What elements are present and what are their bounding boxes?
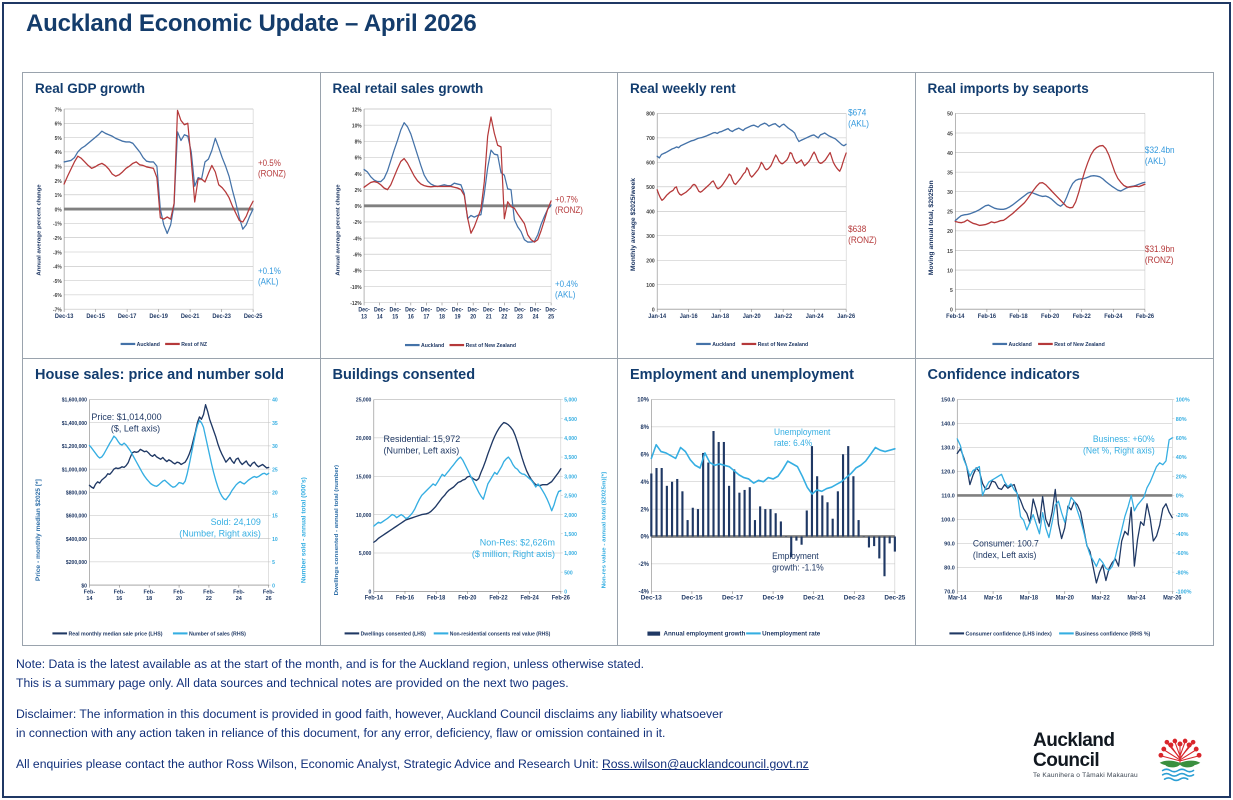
svg-text:16: 16	[407, 314, 413, 320]
chart-real-imports-by-seaports: 05101520253035404550Feb-14Feb-16Feb-18Fe…	[924, 98, 1208, 351]
svg-text:Dec-15: Dec-15	[681, 594, 702, 601]
svg-text:2%: 2%	[640, 507, 649, 513]
svg-text:16: 16	[116, 596, 122, 602]
svg-text:Feb-: Feb-	[143, 589, 155, 595]
svg-text:(Number, Left axis): (Number, Left axis)	[383, 445, 459, 455]
svg-text:Mar-22: Mar-22	[1091, 595, 1110, 601]
svg-text:Feb-26: Feb-26	[1135, 314, 1154, 320]
svg-text:$1,200,000: $1,200,000	[62, 444, 87, 450]
svg-text:200: 200	[646, 258, 654, 264]
svg-text:Feb-: Feb-	[114, 589, 126, 595]
svg-text:2%: 2%	[55, 179, 62, 185]
svg-text:1%: 1%	[55, 193, 62, 199]
svg-text:2,500: 2,500	[564, 493, 577, 499]
svg-text:(AKL): (AKL)	[555, 289, 576, 300]
svg-text:Dec-: Dec-	[514, 307, 526, 313]
contact-email-link[interactable]: Ross.wilson@aucklandcouncil.govt.nz	[602, 757, 809, 771]
svg-text:Non-residential consents real: Non-residential consents real value (RHS…	[449, 631, 550, 637]
svg-text:-4%: -4%	[53, 264, 62, 270]
svg-text:Feb-18: Feb-18	[427, 595, 446, 601]
svg-text:Dec-: Dec-	[358, 307, 370, 313]
svg-text:25,000: 25,000	[355, 398, 371, 404]
svg-text:40%: 40%	[1175, 455, 1186, 461]
svg-text:Feb-22: Feb-22	[1072, 314, 1091, 320]
svg-text:5,000: 5,000	[358, 551, 371, 557]
svg-text:(RONZ): (RONZ)	[555, 204, 583, 215]
svg-text:10: 10	[272, 537, 278, 543]
svg-text:Jan-16: Jan-16	[680, 314, 698, 320]
panel-title-real-gdp-growth: Real GDP growth	[35, 81, 314, 96]
svg-text:$674: $674	[848, 107, 866, 118]
note-line-1: Note: Data is the latest available as at…	[16, 655, 1016, 674]
svg-text:2,000: 2,000	[564, 513, 577, 519]
svg-text:Real monthly median sale price: Real monthly median sale price (LHS)	[69, 631, 163, 637]
svg-text:7%: 7%	[55, 107, 62, 113]
chart-employment-unemployment: -4%-2%0%2%4%6%8%10%Dec-13Dec-15Dec-17Dec…	[626, 385, 909, 639]
logo-wordmark: Auckland Council Te Kaunihera o Tāmaki M…	[1033, 732, 1138, 779]
svg-text:Consumer: 100.7: Consumer: 100.7	[972, 538, 1038, 548]
panel-title-confidence-indicators: Confidence indicators	[928, 367, 1208, 383]
svg-text:4%: 4%	[55, 150, 62, 156]
svg-text:Jan-20: Jan-20	[743, 314, 761, 320]
svg-text:Non-Res: $2,626m: Non-Res: $2,626m	[479, 537, 554, 547]
svg-text:19: 19	[454, 314, 460, 320]
svg-text:-60%: -60%	[1175, 551, 1188, 557]
svg-text:50: 50	[947, 111, 953, 117]
chart-real-retail-sales-growth: -12%-10%-8%-6%-4%-2%0%2%4%6%8%10%12%Dec-…	[329, 98, 612, 351]
svg-text:(RONZ): (RONZ)	[258, 168, 286, 179]
svg-text:-1%: -1%	[53, 221, 62, 227]
svg-text:$1,600,000: $1,600,000	[62, 398, 87, 404]
svg-text:$1,000,000: $1,000,000	[62, 467, 87, 473]
logo-line-2: Council	[1033, 751, 1138, 770]
svg-text:20: 20	[176, 596, 182, 602]
svg-text:25: 25	[947, 209, 953, 215]
svg-text:4%: 4%	[640, 480, 649, 486]
svg-text:45: 45	[947, 131, 953, 137]
svg-text:10,000: 10,000	[355, 513, 371, 519]
svg-text:Jan-26: Jan-26	[837, 314, 855, 320]
svg-text:24: 24	[236, 596, 243, 602]
svg-text:12%: 12%	[351, 107, 361, 113]
dashboard-grid: Real GDP growth -7%-6%-5%-4%-3%-2%-1%0%1…	[22, 72, 1214, 646]
svg-text:Dec-: Dec-	[467, 307, 479, 313]
svg-text:500: 500	[564, 570, 573, 576]
svg-text:(RONZ): (RONZ)	[848, 235, 877, 246]
chart-house-sales: $0$200,000$400,000$600,000$800,000$1,000…	[31, 385, 314, 639]
svg-text:Consumer confidence (LHS index: Consumer confidence (LHS index)	[965, 631, 1051, 637]
svg-text:-3%: -3%	[53, 250, 62, 256]
svg-text:Number sold - annual total (00: Number sold - annual total (000's)	[301, 477, 308, 583]
svg-text:Dec-: Dec-	[405, 307, 417, 313]
svg-text:Annual average percent change: Annual average percent change	[37, 184, 43, 275]
svg-text:growth: -1.1%: growth: -1.1%	[772, 562, 824, 572]
panel-real-retail-sales-growth: Real retail sales growth -12%-10%-8%-6%-…	[321, 73, 619, 359]
svg-text:Dec-13: Dec-13	[55, 314, 74, 320]
svg-text:8%: 8%	[354, 139, 361, 145]
svg-text:600: 600	[646, 160, 654, 166]
svg-text:15,000: 15,000	[355, 474, 371, 480]
svg-text:Mar-16: Mar-16	[983, 595, 1002, 601]
svg-text:Rest of New Zealand: Rest of New Zealand	[758, 342, 808, 348]
svg-text:$200,000: $200,000	[66, 560, 87, 566]
svg-text:Feb-24: Feb-24	[520, 595, 539, 601]
svg-text:Dec-17: Dec-17	[722, 594, 743, 601]
svg-text:$400,000: $400,000	[66, 537, 87, 543]
svg-text:+0.5%: +0.5%	[258, 158, 281, 169]
svg-text:Employment: Employment	[772, 551, 819, 561]
svg-text:1,000: 1,000	[564, 551, 577, 557]
svg-text:5: 5	[272, 560, 275, 566]
svg-text:(Number, Right axis): (Number, Right axis)	[179, 528, 261, 538]
svg-text:($ million, Right axis): ($ million, Right axis)	[471, 549, 554, 559]
svg-text:Dec-23: Dec-23	[212, 314, 231, 320]
svg-text:110.0: 110.0	[941, 493, 954, 499]
svg-text:Price: $1,014,000: Price: $1,014,000	[91, 412, 161, 422]
svg-text:Moving annual total, $2025bn: Moving annual total, $2025bn	[928, 180, 935, 275]
panel-employment-unemployment: Employment and unemployment -4%-2%0%2%4%…	[618, 359, 916, 645]
svg-text:Auckland: Auckland	[421, 343, 444, 349]
svg-text:Monthly average $2025/week: Monthly average $2025/week	[630, 177, 637, 271]
svg-text:Dec-: Dec-	[436, 307, 448, 313]
panel-real-imports-by-seaports: Real imports by seaports 051015202530354…	[916, 73, 1214, 359]
svg-text:Feb-26: Feb-26	[551, 595, 570, 601]
svg-text:100: 100	[646, 283, 654, 289]
svg-text:+0.7%: +0.7%	[555, 194, 578, 205]
svg-text:(Net %, Right axis): (Net %, Right axis)	[1083, 445, 1155, 455]
svg-text:Rest of New Zealand: Rest of New Zealand	[465, 343, 515, 349]
svg-text:+0.4%: +0.4%	[555, 279, 578, 290]
svg-text:Auckland: Auckland	[1008, 342, 1031, 348]
svg-text:Feb-: Feb-	[203, 589, 215, 595]
svg-text:Dec-19: Dec-19	[763, 594, 784, 601]
svg-text:Dec-21: Dec-21	[803, 594, 824, 601]
svg-text:-6%: -6%	[53, 293, 62, 299]
svg-text:0: 0	[950, 307, 953, 313]
svg-text:21: 21	[485, 314, 491, 320]
svg-text:Mar-24: Mar-24	[1127, 595, 1146, 601]
svg-text:-6%: -6%	[352, 252, 361, 258]
svg-text:2%: 2%	[354, 188, 361, 194]
chart-buildings-consented: 05,00010,00015,00020,00025,00005001,0001…	[329, 385, 612, 639]
svg-text:Dec-21: Dec-21	[181, 314, 200, 320]
svg-text:Dec-23: Dec-23	[844, 594, 865, 601]
svg-text:-4%: -4%	[352, 236, 361, 242]
svg-text:-2%: -2%	[352, 220, 361, 226]
svg-text:800: 800	[646, 111, 654, 117]
svg-text:-2%: -2%	[639, 562, 650, 568]
svg-text:Dec-13: Dec-13	[641, 594, 662, 601]
svg-text:60%: 60%	[1175, 436, 1186, 442]
svg-text:20,000: 20,000	[355, 436, 371, 442]
panel-title-employment-unemployment: Employment and unemployment	[630, 367, 909, 383]
svg-text:(AKL): (AKL)	[258, 276, 279, 287]
svg-text:Mar-14: Mar-14	[948, 595, 967, 601]
svg-text:Feb-16: Feb-16	[977, 314, 996, 320]
panel-title-house-sales: House sales: price and number sold	[35, 367, 314, 383]
svg-text:22: 22	[501, 314, 507, 320]
svg-text:30: 30	[947, 190, 953, 196]
svg-text:-8%: -8%	[352, 268, 361, 274]
svg-text:40: 40	[272, 398, 278, 404]
svg-text:20: 20	[272, 490, 278, 496]
svg-text:10: 10	[947, 268, 953, 274]
contact-prefix: All enquiries please contact the author …	[16, 757, 602, 771]
svg-text:4,500: 4,500	[564, 417, 577, 423]
svg-text:6%: 6%	[354, 155, 361, 161]
svg-text:100%: 100%	[1175, 398, 1189, 404]
svg-text:Dwellings consented (LHS): Dwellings consented (LHS)	[360, 631, 425, 637]
svg-text:(RONZ): (RONZ)	[1144, 254, 1173, 265]
svg-text:Feb-: Feb-	[263, 589, 275, 595]
svg-text:130.0: 130.0	[941, 446, 955, 452]
svg-text:140.0: 140.0	[941, 422, 955, 428]
svg-text:100.0: 100.0	[941, 517, 955, 523]
auckland-council-logo: Auckland Council Te Kaunihera o Tāmaki M…	[1033, 730, 1211, 786]
svg-text:24: 24	[532, 314, 539, 320]
svg-text:Feb-: Feb-	[233, 589, 245, 595]
svg-text:Jan-22: Jan-22	[774, 314, 792, 320]
svg-text:Feb-22: Feb-22	[489, 595, 508, 601]
svg-text:Dwellings consented - annual t: Dwellings consented - annual total (numb…	[333, 465, 339, 596]
svg-text:6%: 6%	[55, 121, 62, 127]
svg-text:(Index, Left axis): (Index, Left axis)	[972, 550, 1036, 560]
svg-text:35: 35	[947, 170, 953, 176]
panel-real-gdp-growth: Real GDP growth -7%-6%-5%-4%-3%-2%-1%0%1…	[23, 73, 321, 359]
svg-text:10%: 10%	[637, 398, 649, 404]
svg-text:Dec-19: Dec-19	[149, 314, 168, 320]
svg-text:Annual average percent change: Annual average percent change	[335, 184, 341, 275]
svg-text:14: 14	[86, 596, 93, 602]
svg-text:Dec-: Dec-	[420, 307, 432, 313]
svg-text:Annual employment growth: Annual employment growth	[664, 630, 746, 637]
panel-buildings-consented: Buildings consented 05,00010,00015,00020…	[321, 359, 619, 645]
page-title: Auckland Economic Update – April 2026	[26, 10, 477, 38]
svg-text:Non-res value - annual total (: Non-res value - annual total ($2025m)[*]	[601, 472, 607, 588]
svg-text:22: 22	[206, 596, 212, 602]
svg-text:$32.4bn: $32.4bn	[1144, 145, 1174, 156]
svg-text:Business confidence (RHS %): Business confidence (RHS %)	[1075, 631, 1150, 637]
svg-text:-2%: -2%	[53, 236, 62, 242]
svg-text:20: 20	[470, 314, 476, 320]
svg-text:15: 15	[392, 314, 398, 320]
svg-text:40: 40	[947, 151, 953, 157]
contact-line: All enquiries please contact the author …	[16, 755, 1016, 774]
svg-text:Dec-: Dec-	[498, 307, 510, 313]
svg-text:($, Left axis): ($, Left axis)	[111, 423, 160, 433]
logo-line-3: Te Kaunihera o Tāmaki Makaurau	[1033, 772, 1138, 779]
panel-title-real-imports-by-seaports: Real imports by seaports	[928, 81, 1208, 96]
svg-text:Feb-18: Feb-18	[1009, 314, 1028, 320]
svg-text:23: 23	[517, 314, 523, 320]
panel-title-real-retail-sales-growth: Real retail sales growth	[333, 81, 612, 96]
svg-text:25: 25	[548, 314, 554, 320]
svg-text:Jan-24: Jan-24	[806, 314, 824, 320]
svg-text:Business: +60%: Business: +60%	[1092, 434, 1154, 444]
svg-text:$31.9bn: $31.9bn	[1144, 244, 1174, 255]
svg-text:35: 35	[272, 421, 278, 427]
svg-text:90.0: 90.0	[944, 541, 955, 547]
panel-house-sales: House sales: price and number sold $0$20…	[23, 359, 321, 645]
svg-text:Feb-24: Feb-24	[1104, 314, 1123, 320]
svg-text:120.0: 120.0	[941, 469, 955, 475]
svg-text:0%: 0%	[55, 207, 62, 213]
svg-text:0%: 0%	[354, 204, 361, 210]
svg-text:150.0: 150.0	[941, 398, 955, 404]
svg-text:0: 0	[652, 307, 655, 313]
svg-text:3,500: 3,500	[564, 455, 577, 461]
panel-title-buildings-consented: Buildings consented	[333, 367, 612, 383]
svg-text:Feb-14: Feb-14	[364, 595, 383, 601]
svg-text:Jan-14: Jan-14	[648, 314, 666, 320]
svg-text:Number of sales (RHS): Number of sales (RHS)	[189, 631, 246, 637]
svg-text:Feb-14: Feb-14	[946, 314, 965, 320]
svg-text:-40%: -40%	[1175, 532, 1188, 538]
svg-text:17: 17	[423, 314, 429, 320]
svg-text:500: 500	[646, 185, 654, 191]
svg-text:Mar-26: Mar-26	[1163, 595, 1182, 601]
svg-text:25: 25	[272, 467, 278, 473]
svg-text:400: 400	[646, 209, 654, 215]
svg-text:-12%: -12%	[350, 301, 362, 307]
svg-text:4,000: 4,000	[564, 436, 577, 442]
svg-text:26: 26	[266, 596, 272, 602]
svg-text:(AKL): (AKL)	[848, 118, 869, 129]
svg-text:Rest of NZ: Rest of NZ	[181, 342, 207, 348]
svg-text:-5%: -5%	[53, 279, 62, 285]
svg-text:5: 5	[950, 288, 953, 294]
svg-text:14: 14	[376, 314, 383, 320]
svg-text:$800,000: $800,000	[66, 490, 87, 496]
svg-text:18: 18	[146, 596, 152, 602]
svg-text:Mar-20: Mar-20	[1055, 595, 1073, 601]
svg-text:18: 18	[439, 314, 445, 320]
svg-text:Auckland: Auckland	[712, 342, 735, 348]
svg-text:80%: 80%	[1175, 417, 1186, 423]
svg-text:Jan-18: Jan-18	[711, 314, 729, 320]
svg-text:Dec-: Dec-	[545, 307, 557, 313]
svg-text:Mar-18: Mar-18	[1019, 595, 1038, 601]
svg-text:Dec-25: Dec-25	[884, 594, 905, 601]
svg-text:5%: 5%	[55, 136, 62, 142]
panel-title-real-weekly-rent: Real weekly rent	[630, 81, 909, 96]
svg-text:Dec-: Dec-	[451, 307, 463, 313]
chart-real-gdp-growth: -7%-6%-5%-4%-3%-2%-1%0%1%2%3%4%5%6%7%Dec…	[31, 98, 314, 351]
svg-text:Dec-: Dec-	[389, 307, 401, 313]
svg-text:(AKL): (AKL)	[1144, 155, 1165, 166]
svg-text:Price - monthly median $2025 [: Price - monthly median $2025 [*]	[35, 479, 42, 581]
footer-notes: Note: Data is the latest available as at…	[16, 655, 1016, 774]
svg-text:Dec-15: Dec-15	[86, 314, 105, 320]
svg-text:Dec-: Dec-	[529, 307, 541, 313]
svg-text:Dec-25: Dec-25	[244, 314, 263, 320]
svg-text:+0.1%: +0.1%	[258, 266, 281, 277]
svg-text:$638: $638	[848, 224, 866, 235]
svg-text:$1,400,000: $1,400,000	[62, 421, 87, 427]
logo-line-1: Auckland	[1033, 732, 1138, 751]
panel-confidence-indicators: Confidence indicators 70.080.090.0100.01…	[916, 359, 1214, 645]
svg-text:15: 15	[947, 249, 953, 255]
svg-text:Rest of New Zealand: Rest of New Zealand	[1054, 342, 1105, 348]
svg-text:Dec-17: Dec-17	[118, 314, 137, 320]
svg-text:80.0: 80.0	[944, 565, 955, 571]
svg-text:Dec-: Dec-	[483, 307, 495, 313]
svg-text:Unemployment: Unemployment	[774, 427, 831, 437]
svg-text:-10%: -10%	[350, 285, 362, 291]
svg-text:0%: 0%	[1175, 493, 1183, 499]
svg-text:700: 700	[646, 136, 654, 142]
svg-text:Sold: 24,109: Sold: 24,109	[211, 517, 261, 527]
disclaimer-line-1: Disclaimer: The information in this docu…	[16, 705, 1016, 724]
svg-text:Feb-20: Feb-20	[458, 595, 476, 601]
svg-text:20: 20	[947, 229, 953, 235]
svg-text:0%: 0%	[640, 535, 649, 541]
chart-confidence-indicators: 70.080.090.0100.0110.0120.0130.0140.0150…	[924, 385, 1208, 639]
svg-text:Unemployment rate: Unemployment rate	[762, 630, 820, 637]
svg-text:-7%: -7%	[53, 307, 62, 313]
disclaimer-line-2: in connection with any action taken in r…	[16, 724, 1016, 743]
svg-text:5,000: 5,000	[564, 398, 577, 404]
svg-text:Feb-20: Feb-20	[1041, 314, 1060, 320]
svg-text:Residential: 15,972: Residential: 15,972	[383, 434, 460, 444]
svg-text:Dec-: Dec-	[373, 307, 385, 313]
note-line-2: This is a summary page only. All data so…	[16, 674, 1016, 693]
svg-text:300: 300	[646, 234, 654, 240]
svg-text:Feb-16: Feb-16	[395, 595, 414, 601]
svg-text:30: 30	[272, 444, 278, 450]
svg-text:rate: 6.4%: rate: 6.4%	[774, 438, 812, 448]
svg-text:4%: 4%	[354, 172, 361, 178]
svg-text:Auckland: Auckland	[137, 342, 160, 348]
svg-text:20%: 20%	[1175, 474, 1186, 480]
svg-text:-20%: -20%	[1175, 513, 1188, 519]
svg-text:10%: 10%	[351, 123, 361, 129]
svg-text:6%: 6%	[640, 452, 649, 458]
svg-text:-80%: -80%	[1175, 570, 1188, 576]
chart-real-weekly-rent: 0100200300400500600700800Jan-14Jan-16Jan…	[626, 98, 909, 351]
panel-real-weekly-rent: Real weekly rent 01002003004005006007008…	[618, 73, 916, 359]
svg-text:3%: 3%	[55, 164, 62, 170]
svg-text:1,500: 1,500	[564, 532, 577, 538]
svg-text:8%: 8%	[640, 425, 649, 431]
svg-text:13: 13	[361, 314, 367, 320]
svg-text:$600,000: $600,000	[66, 514, 87, 520]
svg-text:Feb-: Feb-	[173, 589, 185, 595]
svg-text:Feb-: Feb-	[84, 589, 96, 595]
pohutukawa-logo-icon	[1151, 730, 1209, 784]
svg-text:3,000: 3,000	[564, 474, 577, 480]
svg-text:15: 15	[272, 514, 278, 520]
